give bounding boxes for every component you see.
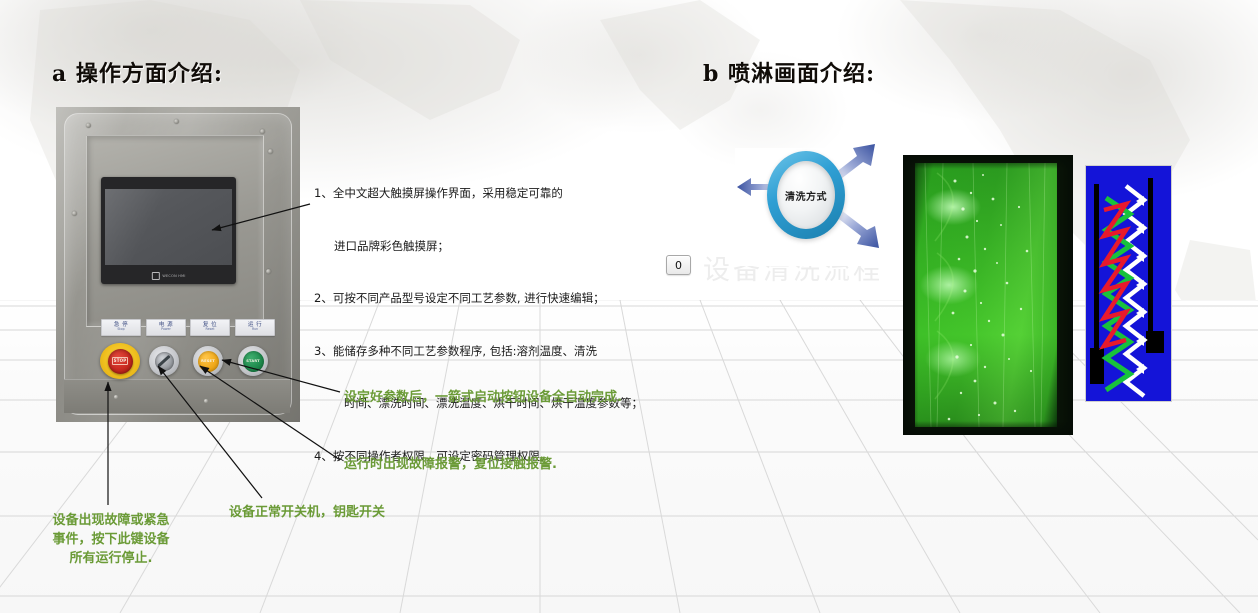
annotation-estop-line1: 设备出现故障或紧急	[36, 511, 186, 530]
annotation-auto-start: 设定好参数后，一箭式启动按钮设备全自动完成.	[344, 388, 622, 407]
cleaning-mode-label: 清洗方式	[785, 188, 827, 203]
annotation-alarm-reset: 运行时出现故障报警，复位接触报警.	[344, 455, 557, 474]
rivet	[260, 129, 265, 134]
rivet	[86, 123, 91, 128]
emergency-stop-button[interactable]: STOP	[100, 343, 140, 379]
hmi-logo-glyph-icon	[151, 272, 159, 280]
value-box[interactable]: 0	[666, 255, 691, 275]
tag-label-en: Power	[161, 328, 171, 332]
screw	[204, 399, 208, 403]
rivet	[72, 211, 77, 216]
reset-button-face[interactable]: RESET	[198, 351, 219, 372]
run-label: START	[246, 359, 260, 363]
tag-label-en: Run	[252, 328, 258, 332]
control-panel-photo: WECON HMI 急 停 Stop 电 源 Power 复 位 Reset 运…	[56, 107, 300, 422]
spec-line-1: 1、全中文超大触摸屏操作界面，采用稳定可靠的	[314, 185, 644, 203]
button-tag-emergency-stop: 急 停 Stop	[101, 319, 141, 336]
schematic-svg	[1086, 166, 1171, 401]
annotation-estop-line2: 事件，按下此键设备	[36, 530, 186, 549]
rivet	[266, 269, 271, 274]
hmi-logo-wordmark: WECON HMI	[162, 274, 185, 278]
section-a-heading: a 操作方面介绍:	[52, 56, 223, 88]
tag-label-en: Reset	[206, 328, 215, 332]
stop-label: STOP	[112, 357, 129, 364]
tag-label-en: Stop	[117, 328, 124, 332]
photo-vignette	[903, 155, 1073, 435]
run-button-face[interactable]: START	[243, 351, 264, 372]
annotation-emergency-stop: 设备出现故障或紧急 事件，按下此键设备 所有运行停止.	[36, 511, 186, 568]
arrow-down-right	[835, 210, 879, 248]
spec-line-2: 2、可按不同产品型号设定不同工艺参数, 进行快速编辑；	[314, 290, 644, 308]
run-start-button[interactable]: START	[238, 346, 268, 376]
specification-list: 1、全中文超大触摸屏操作界面，采用稳定可靠的 进口品牌彩色触摸屏； 2、可按不同…	[314, 150, 644, 500]
annotation-estop-line3: 所有运行停止.	[36, 549, 186, 568]
hmi-screen-glass[interactable]	[105, 189, 232, 265]
key-switch[interactable]	[149, 346, 179, 376]
spray-nozzle-schematic	[1085, 165, 1172, 402]
spray-chamber-photo	[903, 155, 1073, 435]
annotation-key-switch: 设备正常开关机，钥匙开关	[229, 503, 385, 522]
rivet	[174, 119, 179, 124]
button-tag-reset: 复 位 Reset	[190, 319, 230, 336]
panel-lower-band	[64, 379, 290, 413]
key-slot-icon[interactable]	[155, 352, 174, 371]
screw	[114, 395, 118, 399]
button-tag-power: 电 源 Power	[146, 319, 186, 336]
slide-canvas: a 操作方面介绍: b 喷淋画面介绍: WECON HMI 急 停 Stop	[0, 0, 1258, 613]
emergency-stop-mushroom[interactable]: STOP	[108, 349, 133, 374]
section-b-heading: b 喷淋画面介绍:	[703, 56, 875, 88]
cleaning-mode-circle-inner: 清洗方式	[777, 161, 835, 229]
spec-line-3: 3、能储存多种不同工艺参数程序, 包括:溶剂温度、清洗	[314, 343, 644, 361]
reset-button[interactable]: RESET	[193, 346, 223, 376]
spec-line-1b: 进口品牌彩色触摸屏；	[314, 238, 644, 256]
rivet	[268, 149, 273, 154]
cleaning-mode-circle[interactable]: 清洗方式	[767, 151, 845, 239]
hmi-brand-logo: WECON HMI	[151, 272, 185, 280]
button-tag-run: 运 行 Run	[235, 319, 275, 336]
hmi-touchscreen[interactable]: WECON HMI	[101, 177, 236, 284]
reset-label: RESET	[201, 359, 215, 363]
